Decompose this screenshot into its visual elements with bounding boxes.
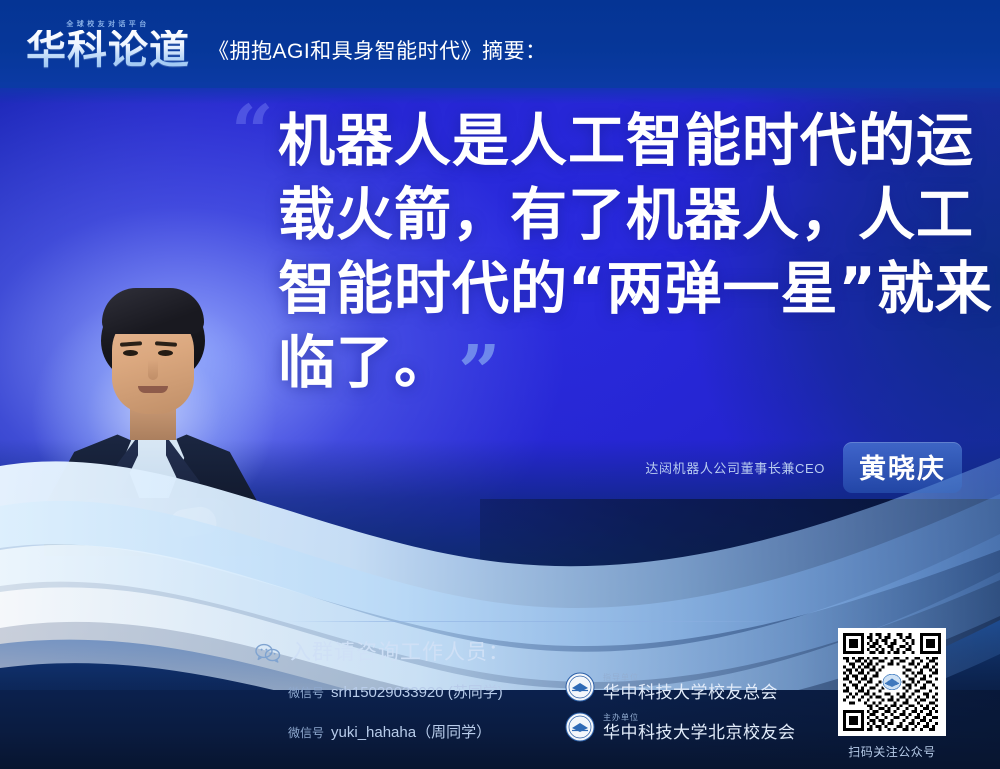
quote-line: 机器人是人工智能时代的运 <box>278 104 958 178</box>
speaker-role: 达闼机器人公司董事长兼CEO <box>645 458 825 477</box>
header-title: 《拥抱AGI和具身智能时代》摘要： <box>208 23 547 65</box>
organization-name: 华中科技大学校友总会 <box>603 684 778 701</box>
organization-row: 指导单位 华中科技大学校友总会 <box>565 672 778 702</box>
contact-label: 微信号 <box>288 686 324 700</box>
poster-canvas: 全球校友对话平台 华科论道 《拥抱AGI和具身智能时代》摘要： “ 机器人是人工… <box>0 0 1000 769</box>
logo-wordmark: 华科论道 <box>26 30 190 70</box>
qr-caption: 扫码关注公众号 <box>838 743 946 760</box>
quote-close-mark: ” <box>458 336 497 410</box>
organization-kind: 指导单位 <box>603 674 778 682</box>
speaker-name-badge: 黄晓庆 <box>843 442 962 493</box>
attribution: 达闼机器人公司董事长兼CEO 黄晓庆 <box>645 442 962 493</box>
portrait-nose <box>148 360 158 380</box>
qr-code[interactable] <box>838 628 946 736</box>
qr-code-image <box>843 633 941 731</box>
qr-section: 扫码关注公众号 <box>838 628 946 760</box>
quote-line: 载火箭，有了机器人，人工 <box>278 178 958 252</box>
organization-kind: 主办单位 <box>603 714 796 722</box>
contact-row: 微信号yuki_hahaha（周同学） <box>288 721 491 742</box>
wechat-icon <box>255 643 281 663</box>
contact-label: 微信号 <box>288 726 324 740</box>
header: 全球校友对话平台 华科论道 《拥抱AGI和具身智能时代》摘要： <box>0 0 1000 88</box>
logo-tagline: 全球校友对话平台 <box>66 19 149 29</box>
organization-name: 华中科技大学北京校友会 <box>603 724 796 741</box>
quote-line-last: 临了。 ” <box>278 326 958 410</box>
footer-divider <box>288 621 786 622</box>
quote-line: 智能时代的“两弹一星”就来 <box>278 252 958 326</box>
portrait-mouth <box>138 386 168 393</box>
quote-line: 临了。 <box>278 326 452 400</box>
portrait-hair-top <box>102 288 204 334</box>
portrait-eye-right <box>158 350 173 356</box>
footer-heading: 入群请咨询工作人员： <box>290 636 510 666</box>
organization-row: 主办单位 华中科技大学北京校友会 <box>565 712 796 742</box>
contact-value: srh15029033920 (苏同学) <box>331 684 503 701</box>
university-seal-icon <box>565 672 595 702</box>
university-seal-icon <box>565 712 595 742</box>
brand-logo[interactable]: 全球校友对话平台 华科论道 <box>26 19 190 70</box>
quote-open-mark: “ <box>231 96 270 170</box>
contact-value: yuki_hahaha（周同学） <box>331 724 491 741</box>
contact-row: 微信号srh15029033920 (苏同学) <box>288 681 503 702</box>
portrait-eye-left <box>123 350 138 356</box>
quote-text: 机器人是人工智能时代的运 载火箭，有了机器人，人工 智能时代的“两弹一星”就来 … <box>278 104 958 410</box>
